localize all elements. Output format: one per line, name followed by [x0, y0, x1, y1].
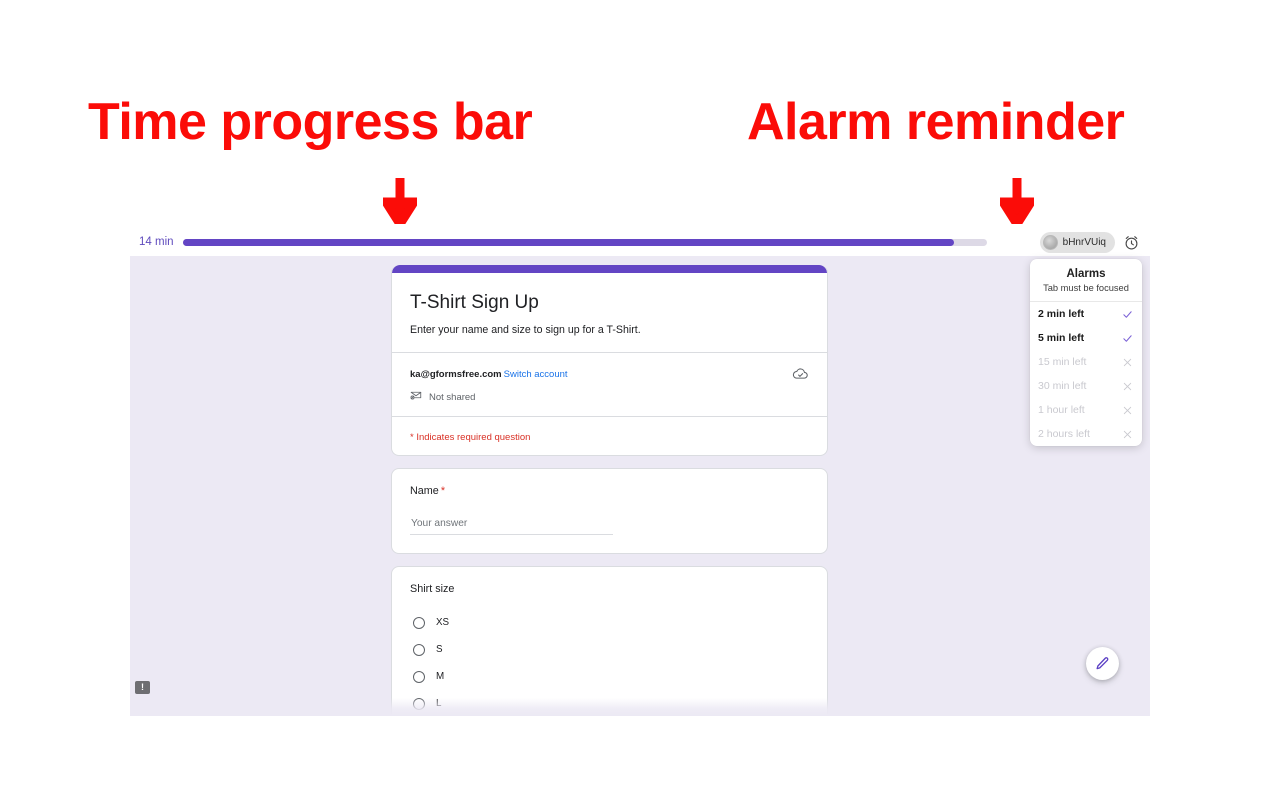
account-name-label: bHnrVUiq — [1063, 237, 1106, 248]
close-icon[interactable] — [1122, 429, 1133, 440]
form-required-note-row: * Indicates required question — [392, 416, 827, 455]
radio-option-label: M — [436, 671, 444, 682]
question-title: Name* — [410, 485, 809, 497]
question-card-name: Name* — [391, 468, 828, 554]
radio-circle-icon — [413, 644, 425, 656]
radio-circle-icon — [413, 671, 425, 683]
radio-option-label: S — [436, 644, 443, 655]
check-icon[interactable] — [1122, 309, 1133, 320]
form-description: Enter your name and size to sign up for … — [410, 324, 809, 336]
form-account-row: ka@gformsfree.comSwitch account Not shar… — [392, 352, 827, 416]
google-form-page: T-Shirt Sign Up Enter your name and size… — [130, 256, 1150, 716]
radio-option-label: L — [436, 698, 441, 709]
radio-option-xs[interactable]: XS — [410, 609, 809, 636]
time-remaining-label: 14 min — [139, 236, 174, 248]
alarm-row-label: 1 hour left — [1038, 404, 1085, 416]
radio-option-l[interactable]: L — [410, 690, 809, 716]
annotation-label-alarm-reminder: Alarm reminder — [747, 92, 1124, 152]
globe-avatar-icon — [1043, 235, 1058, 250]
warning-chip-text: ! — [141, 683, 144, 692]
alarm-panel-title: Alarms — [1036, 268, 1136, 280]
alarm-reminder-panel: Alarms Tab must be focused 2 min left 5 … — [1030, 259, 1142, 446]
radio-option-s[interactable]: S — [410, 636, 809, 663]
topbar-right-controls: bHnrVUiq — [1040, 232, 1140, 253]
form-accent-bar — [392, 265, 827, 273]
switch-account-link[interactable]: Switch account — [504, 369, 568, 380]
form-title: T-Shirt Sign Up — [410, 292, 809, 314]
check-icon[interactable] — [1122, 333, 1133, 344]
alarm-row[interactable]: 2 min left — [1030, 302, 1142, 326]
annotation-down-arrow-icon-left — [383, 178, 417, 224]
annotation-down-arrow-icon-right — [1000, 178, 1034, 224]
radio-option-m[interactable]: M — [410, 663, 809, 690]
account-email-label: ka@gformsfree.com — [410, 369, 502, 380]
form-column: T-Shirt Sign Up Enter your name and size… — [391, 265, 828, 716]
alarm-panel-subtitle: Tab must be focused — [1036, 283, 1136, 293]
question-title-text: Name — [410, 485, 439, 497]
time-progress-bar[interactable] — [183, 239, 987, 246]
radio-circle-icon — [413, 617, 425, 629]
extension-topbar: 14 min bHnrVUiq — [130, 228, 1150, 256]
time-progress-bar-fill — [183, 239, 955, 246]
radio-circle-icon — [413, 698, 425, 710]
name-answer-input[interactable] — [410, 518, 613, 535]
alarm-row[interactable]: 2 hours left — [1030, 422, 1142, 446]
pencil-icon[interactable] — [1086, 647, 1119, 680]
alarm-row[interactable]: 15 min left — [1030, 350, 1142, 374]
radio-option-label: XS — [436, 617, 449, 628]
close-icon[interactable] — [1122, 405, 1133, 416]
alarm-row[interactable]: 1 hour left — [1030, 398, 1142, 422]
question-title: Shirt size — [410, 583, 809, 595]
warning-exclamation-icon[interactable]: ! — [135, 681, 150, 694]
alarm-row-label: 5 min left — [1038, 332, 1084, 344]
required-question-note: * Indicates required question — [410, 432, 530, 443]
close-icon[interactable] — [1122, 381, 1133, 392]
alarm-row-label: 30 min left — [1038, 380, 1086, 392]
account-pill[interactable]: bHnrVUiq — [1040, 232, 1115, 253]
alarm-clock-icon[interactable] — [1122, 233, 1140, 251]
required-asterisk: * — [441, 485, 445, 497]
app-viewport: 14 min bHnrVUiq Alarms Tab must be f — [130, 228, 1150, 716]
drive-cloud-icon[interactable] — [792, 365, 809, 387]
question-card-shirt-size: Shirt size XS S M L — [391, 566, 828, 716]
alarm-row[interactable]: 30 min left — [1030, 374, 1142, 398]
alarm-row-label: 15 min left — [1038, 356, 1086, 368]
form-header-main: T-Shirt Sign Up Enter your name and size… — [392, 273, 827, 352]
alarm-row[interactable]: 5 min left — [1030, 326, 1142, 350]
form-header-card: T-Shirt Sign Up Enter your name and size… — [391, 265, 828, 456]
alarm-row-label: 2 min left — [1038, 308, 1084, 320]
close-icon[interactable] — [1122, 357, 1133, 368]
alarm-panel-header: Alarms Tab must be focused — [1030, 259, 1142, 302]
form-sharing-row: Not shared — [410, 388, 809, 406]
email-off-icon — [410, 388, 422, 406]
sharing-status-label: Not shared — [429, 392, 475, 403]
annotation-label-time-progress-bar: Time progress bar — [88, 92, 532, 152]
alarm-row-label: 2 hours left — [1038, 428, 1090, 440]
